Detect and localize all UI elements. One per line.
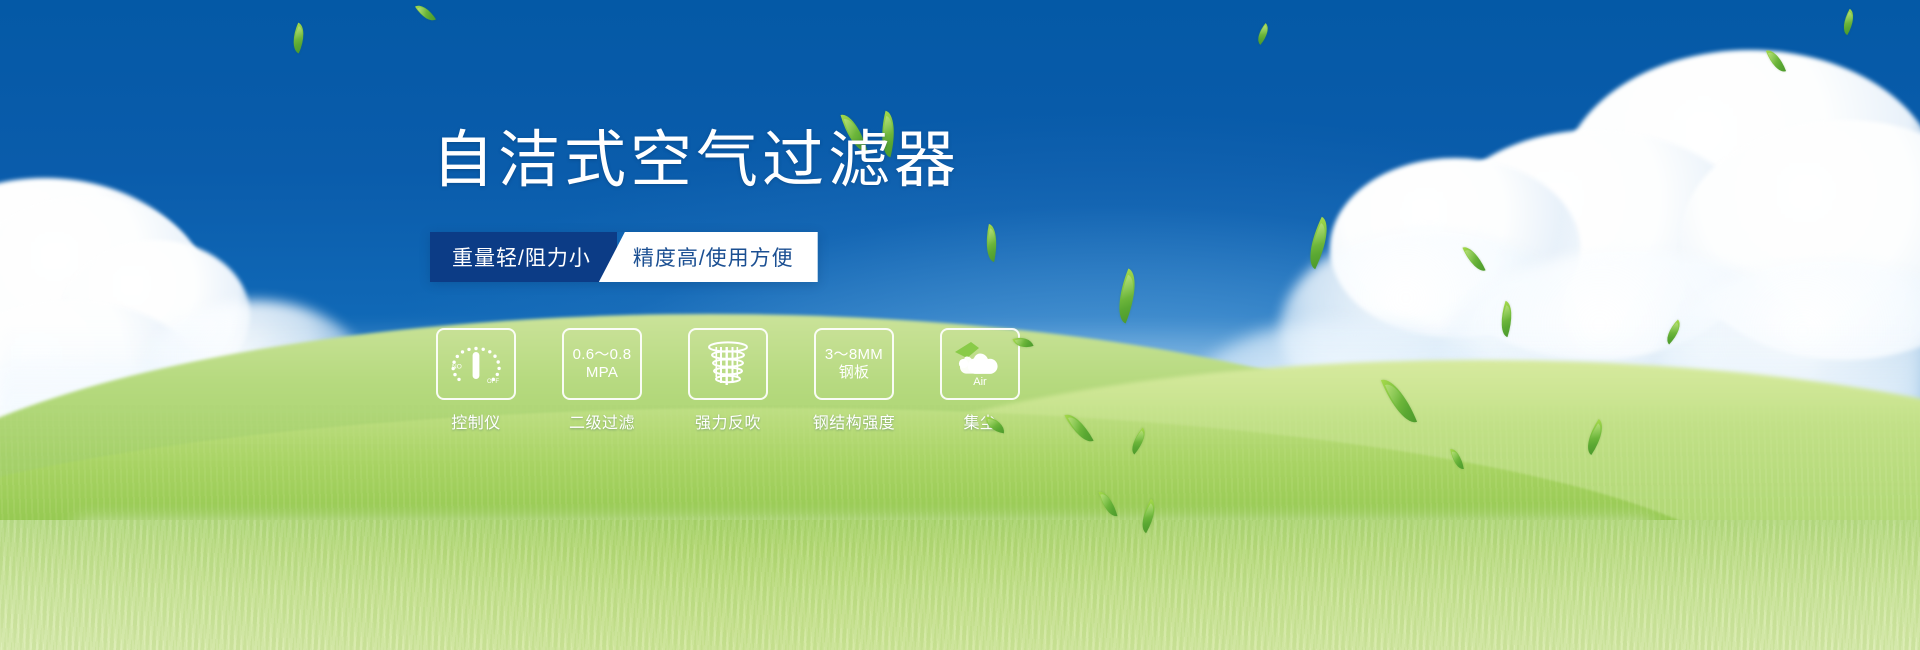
filter-coil-icon: [705, 339, 751, 389]
feature-item-two-stage-filter[interactable]: 0.6～0.8 MPA 二级过滤: [562, 328, 642, 433]
page-title: 自洁式空气过滤器: [432, 128, 992, 195]
pressure-value-line1: 0.6～0.8: [573, 346, 632, 364]
steel-thickness-line1: 3～8MM: [825, 346, 883, 364]
feature-item-steel-strength[interactable]: 3～8MM 钢板 钢结构强度: [814, 328, 894, 433]
air-cloud-icon: Air: [949, 340, 1011, 388]
grass-texture: [0, 400, 1920, 650]
feature-caption: 二级过滤: [569, 409, 635, 433]
title-block: 自洁式空气过滤器: [432, 128, 992, 195]
feature-item-back-blow[interactable]: 强力反吹: [688, 328, 768, 433]
feature-icon-box: [688, 328, 768, 400]
control-dial-icon: NO OFF: [447, 338, 505, 390]
pressure-value-line2: MPA: [586, 364, 618, 382]
tab-high-precision-easy-use[interactable]: 精度高/使用方便: [599, 232, 818, 282]
steel-thickness-line2: 钢板: [839, 364, 870, 382]
feature-icon-box: 0.6～0.8 MPA: [562, 328, 642, 400]
feature-caption: 钢结构强度: [813, 409, 896, 433]
feature-icon-box: Air: [940, 328, 1020, 400]
feature-list: NO OFF 控制仪 0.6～0.8 MPA 二级过滤: [436, 328, 1020, 433]
air-label: Air: [973, 376, 987, 388]
feature-caption: 强力反吹: [695, 409, 761, 433]
svg-text:NO: NO: [452, 364, 462, 371]
tagline-tabs: 重量轻/阻力小 精度高/使用方便: [430, 232, 818, 282]
tab-lightweight-low-resistance[interactable]: 重量轻/阻力小: [430, 232, 617, 282]
svg-text:OFF: OFF: [487, 379, 499, 385]
feature-icon-box: NO OFF: [436, 328, 516, 400]
feature-item-dust-collection[interactable]: Air 集尘: [940, 328, 1020, 433]
hero-banner: 自洁式空气过滤器 重量轻/阻力小 精度高/使用方便: [0, 0, 1920, 650]
feature-item-controller[interactable]: NO OFF 控制仪: [436, 328, 516, 433]
feature-caption: 控制仪: [451, 409, 501, 433]
feature-icon-box: 3～8MM 钢板: [814, 328, 894, 400]
